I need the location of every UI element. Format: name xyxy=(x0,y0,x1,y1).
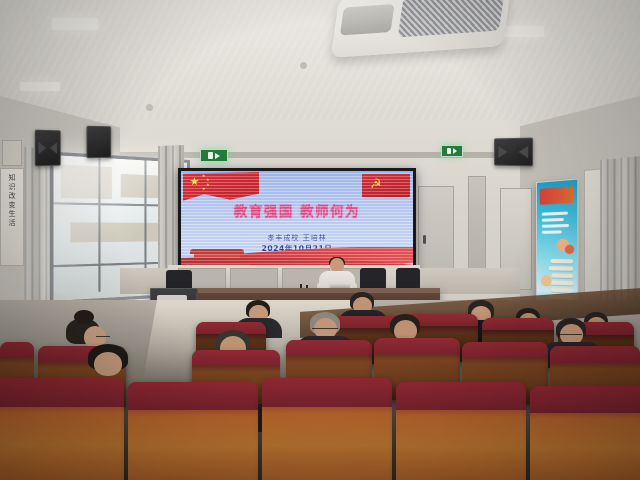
banner-illustration-3 xyxy=(541,275,552,287)
ac-grille xyxy=(398,0,505,37)
vertical-wall-banner-left: 知识改变生活 xyxy=(0,168,24,266)
attendee-glasses xyxy=(558,334,582,338)
sprinkler-head xyxy=(300,62,307,69)
lecture-hall-photo: 知识改变生活 xyxy=(0,0,640,480)
seat-front-2[interactable] xyxy=(128,382,258,480)
exit-sign-left xyxy=(200,149,228,162)
exit-arrow-icon xyxy=(215,153,220,159)
banner-illustration-2 xyxy=(565,245,574,254)
presentation-title: 教育强国 教师何为 xyxy=(181,200,413,220)
attendee-glasses xyxy=(312,328,338,332)
door-handle[interactable] xyxy=(423,235,426,244)
seat-front-4[interactable] xyxy=(396,382,526,480)
wall-speaker-left-2 xyxy=(86,126,111,159)
podium-chair-right xyxy=(360,268,386,290)
exit-person-icon xyxy=(447,148,451,154)
wall-speaker-left xyxy=(35,130,61,167)
seat-front-3[interactable] xyxy=(262,378,392,480)
wall-speaker-right xyxy=(494,138,533,167)
seat-front-5[interactable] xyxy=(530,386,640,480)
seat-front-1[interactable] xyxy=(0,378,124,480)
podium-chair-right-2 xyxy=(396,268,420,290)
ac-vent xyxy=(340,4,395,35)
attendee-glasses xyxy=(96,336,110,340)
led-screen-content: ☭ 教育强国 教师何为 孝丰成校 王培林 2024年10月21日 xyxy=(181,171,413,273)
led-presentation-screen[interactable]: ☭ 教育强国 教师何为 孝丰成校 王培林 2024年10月21日 xyxy=(178,168,416,276)
exit-sign-right xyxy=(441,145,463,157)
china-national-flag-icon xyxy=(183,172,259,202)
exit-person-icon xyxy=(208,152,213,159)
left-banner-text: 知识改变生活 xyxy=(5,174,17,228)
ceiling-light-2 xyxy=(20,82,60,91)
attendee-hair-bun xyxy=(74,310,94,324)
exit-arrow-icon xyxy=(453,148,457,154)
ceiling-light-1 xyxy=(52,18,98,30)
left-wall-picture xyxy=(2,140,22,166)
sprinkler-head xyxy=(146,104,153,111)
cpc-party-flag-icon: ☭ xyxy=(362,174,410,197)
ceiling-light-3 xyxy=(500,26,544,37)
hammer-sickle-icon: ☭ xyxy=(370,178,385,192)
banner-headline xyxy=(540,186,574,205)
presentation-presenter: 孝丰成校 王培林 xyxy=(181,233,413,243)
